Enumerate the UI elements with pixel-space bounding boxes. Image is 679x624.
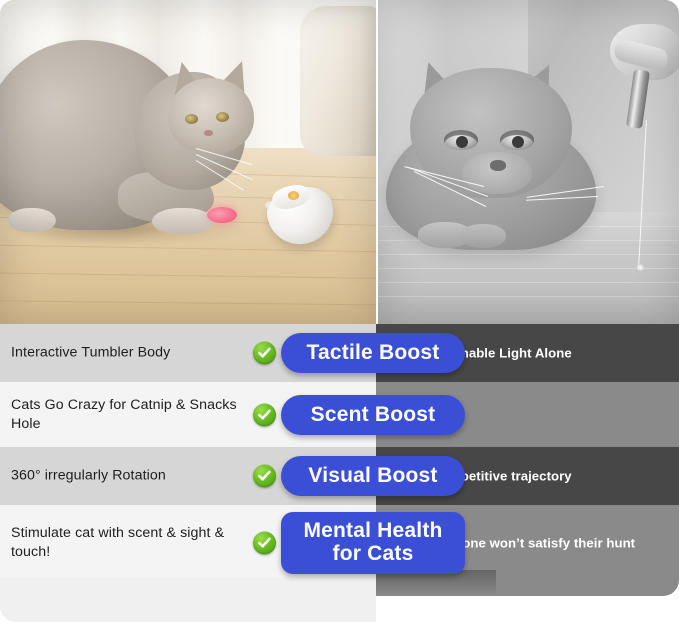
benefit-badge-mental-health-for-cats[interactable]: Mental Health for Cats: [281, 512, 465, 574]
green-check-icon: [253, 342, 276, 365]
feature-label: 360° irregularly Rotation: [11, 466, 243, 485]
photo-bsh-muzzle: [462, 152, 532, 194]
benefit-label-line1: Mental Health: [303, 520, 442, 543]
benefit-badge-tactile-boost[interactable]: Tactile Boost: [281, 333, 465, 373]
benefit-badge-visual-boost[interactable]: Visual Boost: [281, 456, 465, 496]
photo-bsh-pupil-left: [456, 136, 468, 148]
photo-cat-head: [168, 78, 254, 154]
photo-cat-paw-rear: [8, 208, 56, 232]
photo-cat-eye-left: [185, 114, 198, 124]
photo-bsh-pupil-right: [512, 136, 524, 148]
product-comparison-infographic: Interactive Tumbler Body Untouchable Lig…: [0, 0, 679, 624]
table-row: 360° irregularly Rotation Only repetitiv…: [0, 447, 679, 505]
photo-bsh-paw-right: [460, 224, 506, 248]
photo-laser-dot: [636, 264, 645, 271]
photo-red-light-spot: [207, 207, 237, 223]
feature-comparison-table: Interactive Tumbler Body Untouchable Lig…: [0, 324, 679, 596]
table-row: Interactive Tumbler Body Untouchable Lig…: [0, 324, 679, 382]
feature-label: Cats Go Crazy for Catnip & Snacks Hole: [11, 395, 243, 433]
photo-cat-nose: [204, 130, 213, 136]
photo-toy-light-dot: [288, 191, 299, 200]
benefit-badge-scent-boost[interactable]: Scent Boost: [281, 395, 465, 435]
photo-cat-eye-right: [216, 112, 229, 122]
green-check-icon: [253, 465, 276, 488]
green-check-icon: [253, 531, 276, 554]
cat-playing-with-tumbler-toy-photo: [0, 0, 376, 324]
cat-with-laser-pointer-photo: [378, 0, 679, 324]
feature-label: Interactive Tumbler Body: [11, 343, 243, 362]
green-check-icon: [253, 403, 276, 426]
photo-cat-paw-front: [152, 208, 214, 234]
table-left-footer: [0, 578, 376, 622]
feature-label: Stimulate cat with scent & sight & touch…: [11, 523, 243, 561]
table-row: Cats Go Crazy for Catnip & Snacks Hole N…: [0, 382, 679, 447]
benefit-label-line2: for Cats: [333, 543, 414, 566]
photo-bsh-nose: [490, 160, 506, 171]
photo-furniture-leg: [300, 6, 376, 156]
